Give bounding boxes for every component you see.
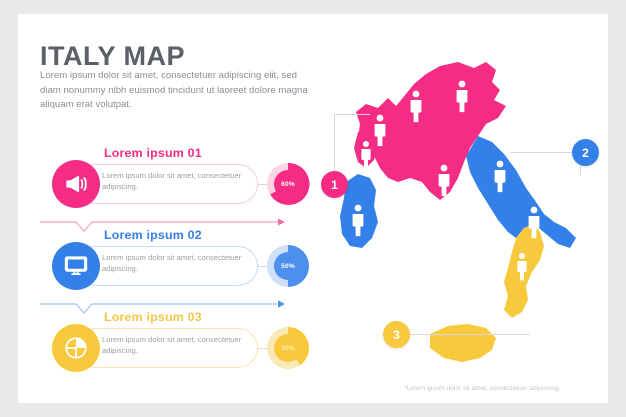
progress-value-3: 30%	[273, 333, 303, 363]
map-marker-2[interactable]: 2	[572, 139, 599, 166]
page-subtitle: Lorem ipsum dolor sit amet, consectetuer…	[40, 69, 315, 113]
footnote: *Lorem ipsum dolor sit amet, consectetue…	[404, 385, 561, 392]
map-marker-3[interactable]: 3	[383, 321, 410, 348]
feature-row-3[interactable]: Lorem ipsum 03 Lorem ipsum dolor sit ame…	[40, 310, 330, 388]
feature-text-1: Lorem ipsum dolor sit amet, consectetuer…	[102, 170, 242, 192]
infographic-canvas: ITALY MAP Lorem ipsum dolor sit amet, co…	[18, 14, 608, 403]
feature-heading-2: Lorem ipsum 02	[104, 228, 202, 242]
feature-heading-1: Lorem ipsum 01	[104, 146, 202, 160]
leader-line-1-h	[334, 114, 370, 115]
italy-map-svg	[318, 32, 606, 372]
leader-line-2-h	[510, 152, 580, 153]
monitor-icon	[52, 242, 100, 290]
italy-map[interactable]	[318, 32, 606, 372]
feature-heading-3: Lorem ipsum 03	[104, 310, 202, 324]
page-title: ITALY MAP	[40, 41, 185, 72]
feature-text-3: Lorem ipsum dolor sit amet, consectetuer…	[102, 334, 242, 356]
pie-chart-icon	[52, 324, 100, 372]
progress-value-2: 50%	[273, 251, 303, 281]
feature-row-1[interactable]: Lorem ipsum 01 Lorem ipsum dolor sit ame…	[40, 146, 330, 224]
megaphone-icon	[52, 160, 100, 208]
leader-line-3-h	[410, 334, 530, 335]
feature-text-2: Lorem ipsum dolor sit amet, consectetuer…	[102, 252, 242, 274]
map-marker-1[interactable]: 1	[321, 171, 348, 198]
progress-value-1: 60%	[273, 169, 303, 199]
feature-row-2[interactable]: Lorem ipsum 02 Lorem ipsum dolor sit ame…	[40, 228, 330, 306]
region-sicily	[430, 324, 496, 362]
